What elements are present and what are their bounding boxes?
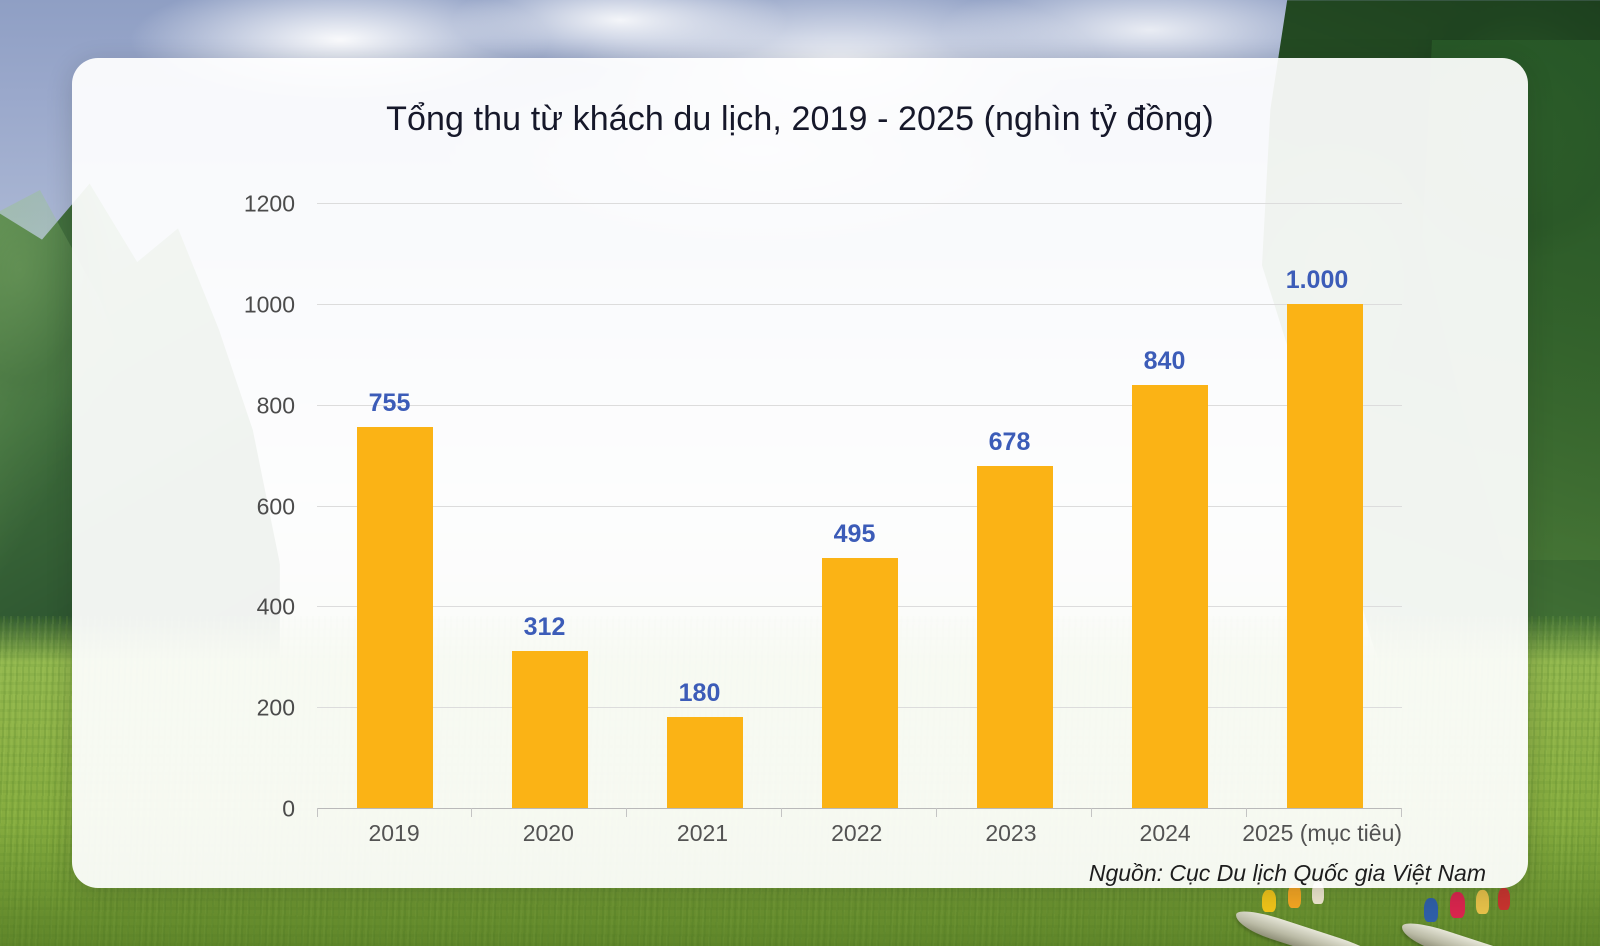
gridline-0: 0 — [317, 808, 1402, 809]
x-axis-label-2020: 2020 — [471, 820, 625, 847]
x-axis-label-2025-target: 2025 (mục tiêu) — [1242, 820, 1402, 847]
x-axis-label-2021: 2021 — [625, 820, 779, 847]
bar-2025-target[interactable]: 1.000 — [1287, 304, 1363, 808]
x-tick-mark — [781, 808, 782, 817]
x-axis-label-2022: 2022 — [780, 820, 934, 847]
bar-value-label: 312 — [524, 613, 566, 642]
x-tick-mark — [1246, 808, 1247, 817]
bar-2021[interactable]: 180 — [667, 717, 743, 808]
bar-2023[interactable]: 678 — [977, 466, 1053, 808]
y-axis-label-1000: 1000 — [244, 291, 295, 318]
bar-value-label: 755 — [369, 389, 411, 418]
bar-slot: 495 — [782, 203, 937, 808]
page-title: Tổng thu từ khách du lịch, 2019 - 2025 (… — [72, 100, 1528, 139]
bar-slot: 1.000 — [1247, 203, 1402, 808]
x-tick-mark — [471, 808, 472, 817]
x-tick-mark — [936, 808, 937, 817]
bar-slot: 840 — [1092, 203, 1247, 808]
bar-slot: 755 — [317, 203, 472, 808]
bar-2020[interactable]: 312 — [512, 651, 588, 808]
bar-2022[interactable]: 495 — [822, 558, 898, 808]
x-axis-labels: 2019 2020 2021 2022 2023 2024 2025 (mục … — [317, 820, 1402, 847]
chart-card: Tổng thu từ khách du lịch, 2019 - 2025 (… — [72, 58, 1528, 888]
bar-2024[interactable]: 840 — [1132, 385, 1208, 809]
chart-source-note: Nguồn: Cục Du lịch Quốc gia Việt Nam — [1089, 860, 1486, 887]
bar-slot: 312 — [472, 203, 627, 808]
x-tick-mark — [626, 808, 627, 817]
y-axis-label-600: 600 — [257, 493, 295, 520]
bar-2019[interactable]: 755 — [357, 427, 433, 808]
y-axis-label-800: 800 — [257, 392, 295, 419]
bar-value-label: 678 — [989, 428, 1031, 457]
bar-value-label: 1.000 — [1286, 266, 1349, 295]
x-tick-mark — [1401, 808, 1402, 817]
x-tick-mark — [317, 808, 318, 817]
y-axis-label-0: 0 — [282, 796, 295, 823]
x-axis-label-2023: 2023 — [934, 820, 1088, 847]
bar-value-label: 495 — [834, 520, 876, 549]
x-axis-label-2024: 2024 — [1088, 820, 1242, 847]
x-axis-label-2019: 2019 — [317, 820, 471, 847]
bar-value-label: 840 — [1144, 347, 1186, 376]
bar-slot: 180 — [627, 203, 782, 808]
bar-value-label: 180 — [679, 679, 721, 708]
bar-series: 755 312 180 — [317, 203, 1402, 808]
screenshot-root: Tổng thu từ khách du lịch, 2019 - 2025 (… — [0, 0, 1600, 946]
bar-slot: 678 — [937, 203, 1092, 808]
chart-plot-area: 1200 1000 800 600 400 200 0 — [317, 203, 1402, 808]
x-tick-mark — [1091, 808, 1092, 817]
y-axis-label-400: 400 — [257, 594, 295, 621]
y-axis-label-200: 200 — [257, 695, 295, 722]
y-axis-label-1200: 1200 — [244, 191, 295, 218]
